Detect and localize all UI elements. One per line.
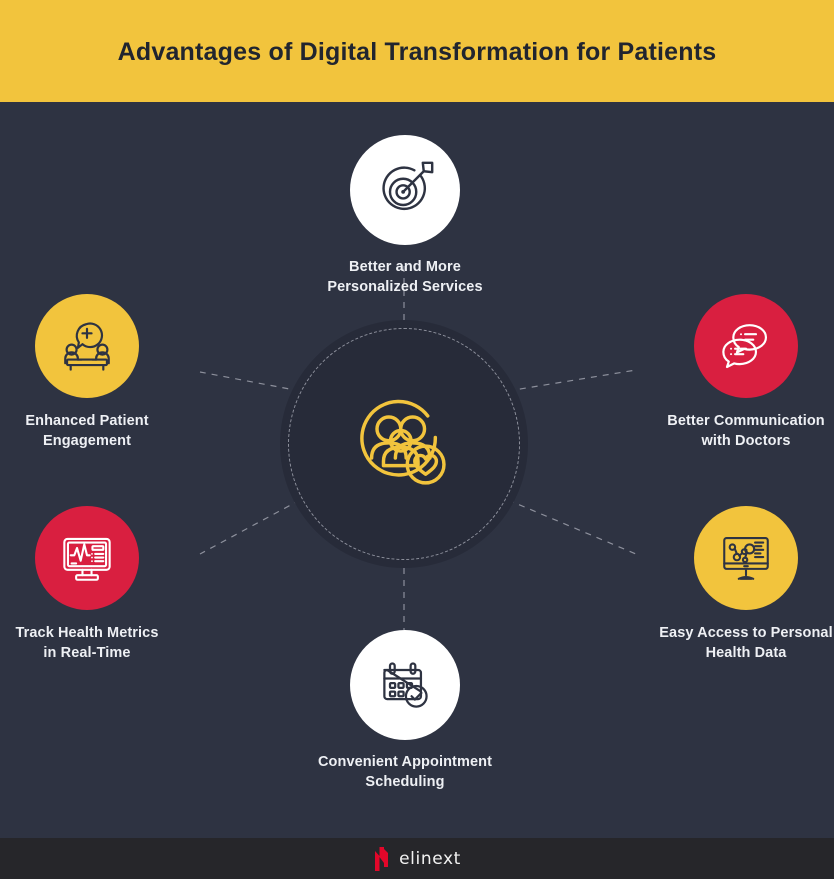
node-bubble-personalized-services[interactable] [350,135,460,245]
node-track-health-metrics[interactable]: Track Health Metrics in Real-Time [0,506,237,663]
node-label-track-health-metrics: Track Health Metrics in Real-Time [0,624,237,663]
consultation-medical-cross-icon [58,317,116,375]
footer-bar: elinext [0,838,834,879]
infographic-canvas: Better and More Personalized Services En… [0,102,834,838]
node-bubble-communication-doctors[interactable] [694,294,798,398]
node-label-appointment-scheduling: Convenient Appointment Scheduling [255,753,555,792]
page-title: Advantages of Digital Transformation for… [118,34,717,68]
node-label-personal-health-data: Easy Access to Personal Health Data [596,624,834,663]
node-personalized-services[interactable]: Better and More Personalized Services [255,135,555,297]
calendar-check-icon [375,655,435,715]
node-bubble-patient-engagement[interactable] [35,294,139,398]
node-label-patient-engagement: Enhanced Patient Engagement [0,412,237,451]
people-heart-icon [350,390,458,498]
header-banner: Advantages of Digital Transformation for… [0,0,834,102]
chat-bubbles-icon [717,317,775,375]
footer-logo-text: elinext [399,849,461,869]
monitor-network-data-icon [717,529,775,587]
node-appointment-scheduling[interactable]: Convenient Appointment Scheduling [255,630,555,792]
node-label-personalized-services: Better and More Personalized Services [255,258,555,297]
node-bubble-appointment-scheduling[interactable] [350,630,460,740]
target-arrow-icon [375,160,435,220]
central-hub [280,320,528,568]
node-bubble-track-health-metrics[interactable] [35,506,139,610]
monitor-heartbeat-icon [58,529,116,587]
node-communication-doctors[interactable]: Better Communication with Doctors [596,294,834,451]
node-patient-engagement[interactable]: Enhanced Patient Engagement [0,294,237,451]
node-label-communication-doctors: Better Communication with Doctors [596,412,834,451]
node-personal-health-data[interactable]: Easy Access to Personal Health Data [596,506,834,663]
node-bubble-personal-health-data[interactable] [694,506,798,610]
elinext-n-mark-icon [373,847,390,871]
